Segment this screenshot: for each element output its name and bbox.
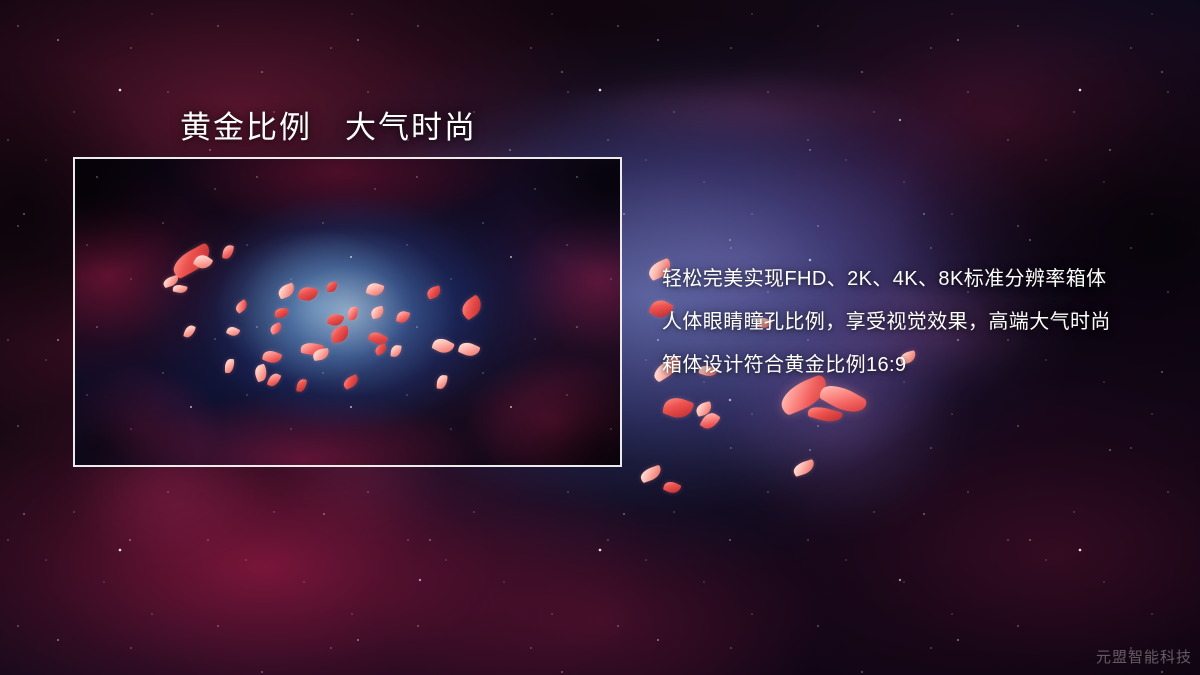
presentation-slide: 黄金比例 大气时尚 轻松完美实现FHD、2K、4K、8K标准分辨率箱体 人体眼睛… (0, 0, 1200, 675)
body-text-block: 轻松完美实现FHD、2K、4K、8K标准分辨率箱体 人体眼睛瞳孔比例，享受视觉效… (662, 258, 1182, 387)
body-line-2: 人体眼睛瞳孔比例，享受视觉效果，高端大气时尚 (662, 301, 1182, 344)
watermark: 元盟智能科技 (1096, 646, 1192, 667)
page-title: 黄金比例 大气时尚 (180, 102, 477, 147)
body-line-3: 箱体设计符合黄金比例16:9 (662, 344, 1182, 387)
body-line-1: 轻松完美实现FHD、2K、4K、8K标准分辨率箱体 (662, 258, 1182, 301)
framed-image (73, 157, 622, 467)
